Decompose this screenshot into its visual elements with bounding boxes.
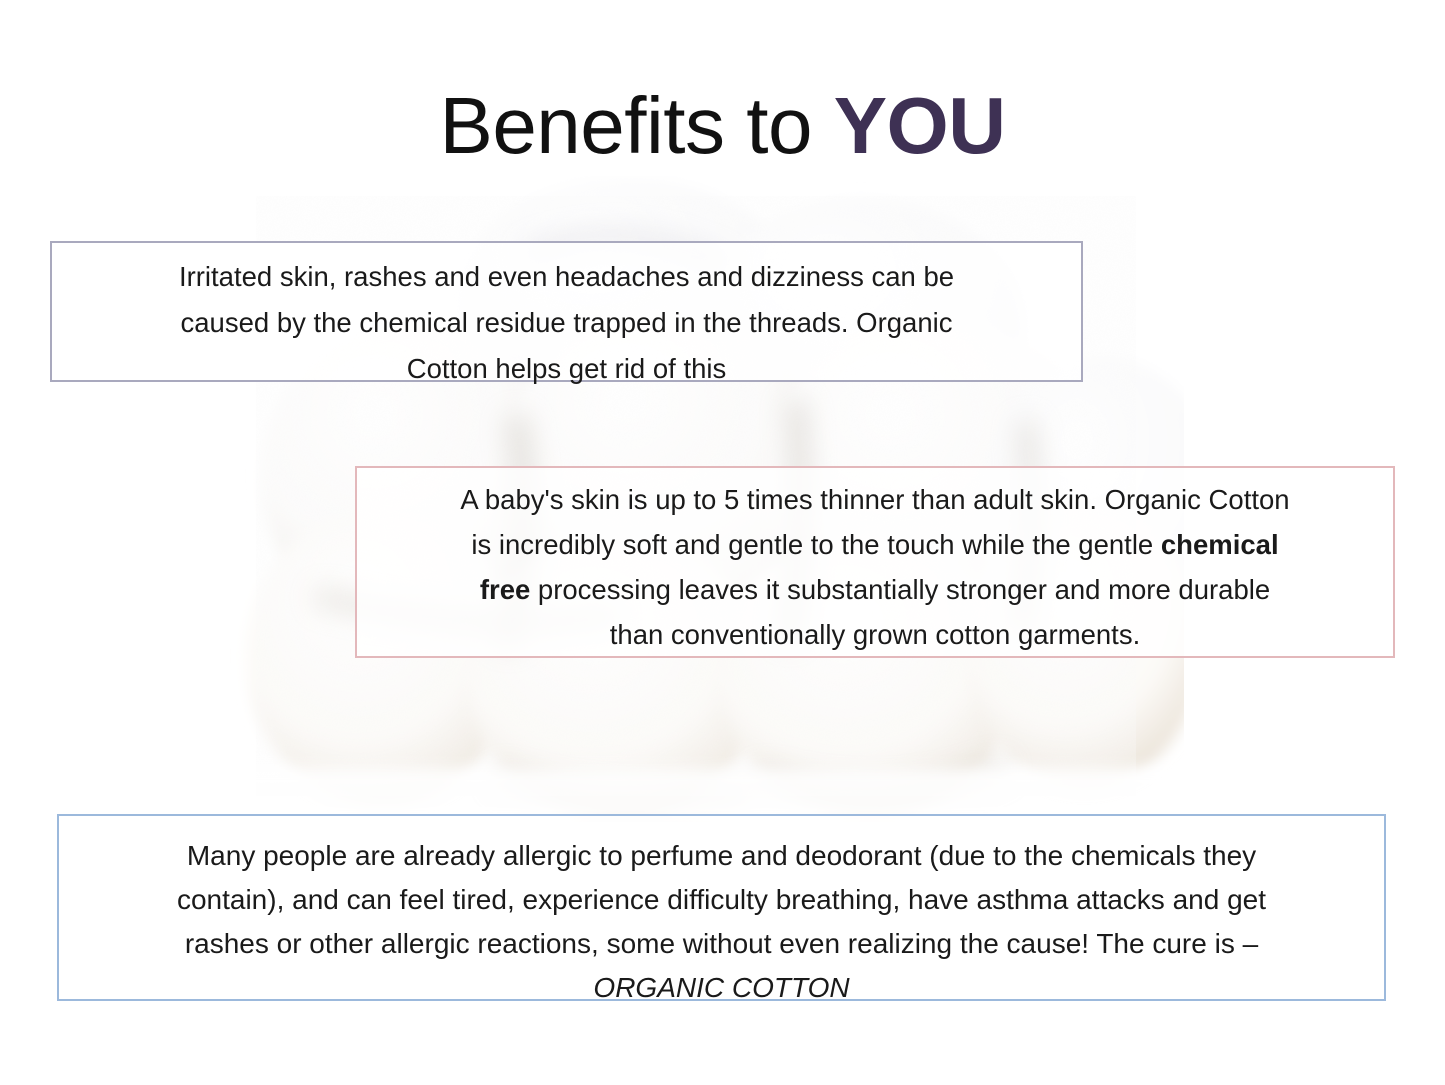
- callout-line: caused by the chemical residue trapped i…: [66, 300, 1067, 346]
- callout-line: Irritated skin, rashes and even headache…: [66, 254, 1067, 300]
- callout-line-text: is incredibly soft and gentle to the tou…: [471, 529, 1160, 560]
- callout-italic-organic-cotton: ORGANIC COTTON: [593, 972, 849, 1003]
- slide-canvas: Benefits to YOU: [0, 0, 1445, 1085]
- callout-line: Many people are already allergic to perf…: [73, 834, 1370, 878]
- callout-line: Cotton helps get rid of this: [66, 346, 1067, 392]
- title-lead-text: Benefits to: [439, 81, 833, 170]
- callout-line: than conventionally grown cotton garment…: [369, 612, 1381, 657]
- page-title: Benefits to YOU: [0, 86, 1445, 166]
- callout-baby-skin: A baby's skin is up to 5 times thinner t…: [355, 466, 1395, 658]
- callout-line-with-bold: free processing leaves it substantially …: [369, 567, 1381, 612]
- callout-bold-free: free: [480, 574, 530, 605]
- callout-line-text: processing leaves it substantially stron…: [530, 574, 1270, 605]
- callout-line: contain), and can feel tired, experience…: [73, 878, 1370, 922]
- callout-line: rashes or other allergic reactions, some…: [73, 922, 1370, 966]
- callout-bold-chemical: chemical: [1161, 529, 1279, 560]
- callout-line-with-bold: is incredibly soft and gentle to the tou…: [369, 522, 1381, 567]
- callout-allergies: Many people are already allergic to perf…: [57, 814, 1386, 1001]
- callout-irritated-skin: Irritated skin, rashes and even headache…: [50, 241, 1083, 382]
- title-emphasis-text: YOU: [834, 81, 1006, 170]
- callout-line-italic: ORGANIC COTTON: [73, 966, 1370, 1010]
- callout-line: A baby's skin is up to 5 times thinner t…: [369, 477, 1381, 522]
